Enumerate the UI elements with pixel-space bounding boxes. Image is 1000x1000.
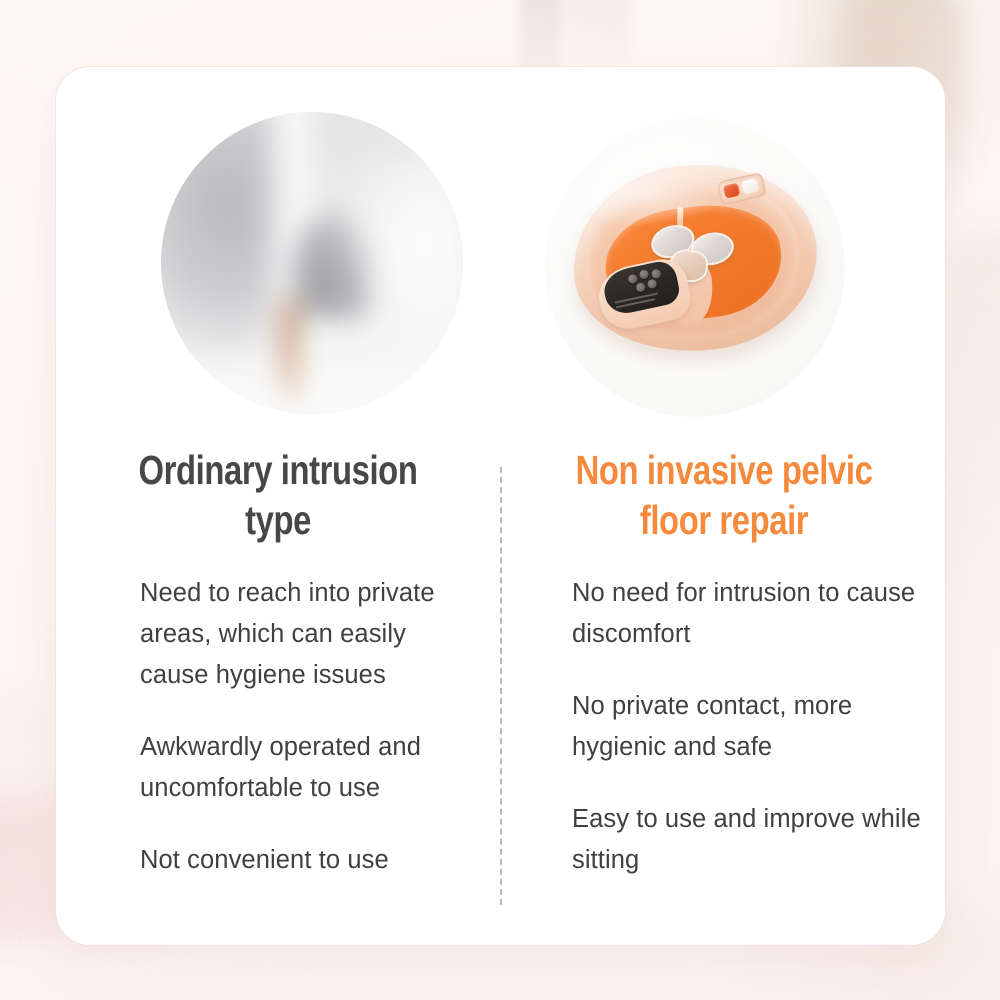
column-ordinary-intrusion: Ordinary intrusion type Need to reach in… [78, 445, 478, 881]
device-panel-button-5 [647, 279, 658, 290]
device-panel-button-1 [627, 274, 638, 285]
device-indicator-light-on [723, 183, 741, 199]
device-panel-button-3 [651, 269, 662, 280]
pelvic-floor-repair-device-photo [545, 117, 845, 417]
bullet-list-ordinary: Need to reach into private areas, which … [78, 573, 478, 881]
device-illustration [558, 144, 832, 371]
blurred-clinic-photo [161, 112, 463, 414]
list-item: No private contact, more hygienic and sa… [572, 686, 924, 768]
background-blur-shape-right-edge [940, 230, 1000, 650]
list-item: No need for intrusion to cause discomfor… [572, 573, 924, 655]
list-item: Easy to use and improve while sitting [572, 799, 924, 881]
device-indicator-light-off [741, 178, 759, 194]
background-blur-shape-strand-right [560, 0, 630, 70]
comparison-card: Ordinary intrusion type Need to reach in… [56, 67, 945, 945]
list-item: Awkwardly operated and uncomfortable to … [140, 727, 478, 809]
list-item: Not convenient to use [140, 840, 478, 881]
image-row [56, 112, 945, 437]
blurred-photo-layers [161, 112, 463, 414]
photo-tan-object [279, 299, 300, 397]
device-panel-button-2 [639, 269, 650, 280]
photo-floor [161, 354, 463, 414]
column-title-ordinary: Ordinary intrusion type [118, 445, 438, 545]
column-title-non-invasive: Non invasive pelvic floor repair [564, 445, 884, 545]
bullet-list-non-invasive: No need for intrusion to cause discomfor… [524, 573, 924, 881]
column-divider [500, 467, 502, 905]
column-non-invasive: Non invasive pelvic floor repair No need… [524, 445, 924, 881]
list-item: Need to reach into private areas, which … [140, 573, 478, 696]
photo-highlight [332, 159, 462, 355]
infographic-page: Ordinary intrusion type Need to reach in… [0, 0, 1000, 1000]
device-panel-button-4 [635, 282, 646, 293]
